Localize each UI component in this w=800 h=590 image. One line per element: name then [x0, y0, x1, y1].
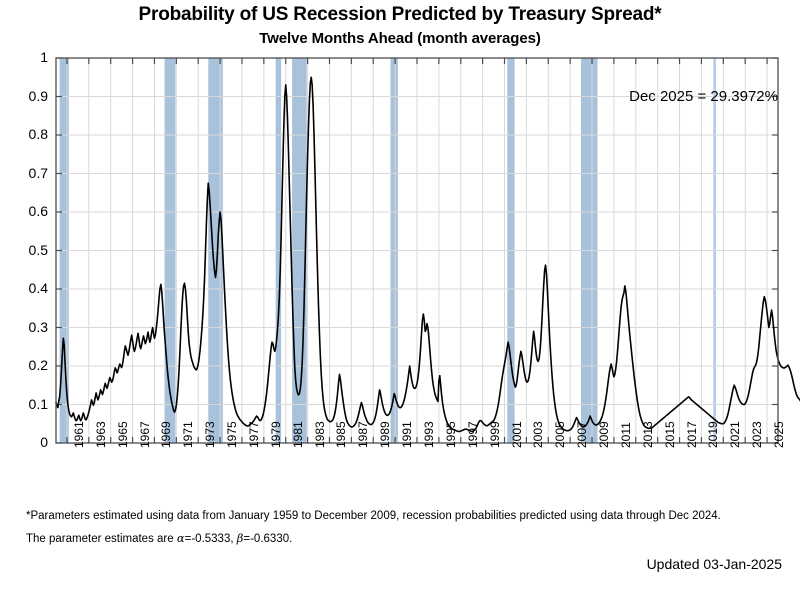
x-tick-label: 2017 [685, 421, 699, 448]
x-tick-label: 1995 [444, 421, 458, 448]
x-tick-label: 2005 [553, 421, 567, 448]
x-tick-label: 1971 [181, 421, 195, 448]
footnote-estimates: The parameter estimates are α=-0.5333, β… [26, 531, 292, 545]
x-tick-label: 1961 [72, 421, 86, 448]
y-tick-label: 0.8 [12, 126, 48, 142]
x-tick-label: 2009 [597, 421, 611, 448]
x-tick-label: 1973 [203, 421, 217, 448]
y-tick-label: 0.7 [12, 165, 48, 181]
footnote-estimates-prefix: The parameter estimates are [26, 533, 177, 545]
x-tick-label: 1963 [94, 421, 108, 448]
x-tick-label: 2023 [750, 421, 764, 448]
x-tick-label: 1975 [225, 421, 239, 448]
y-tick-label: 0.5 [12, 242, 48, 258]
y-tick-label: 0.1 [12, 396, 48, 412]
x-tick-label: 1997 [466, 421, 480, 448]
x-tick-label: 2013 [641, 421, 655, 448]
x-tick-label: 1969 [159, 421, 173, 448]
x-tick-label: 2015 [663, 421, 677, 448]
updated-date: Updated 03-Jan-2025 [0, 556, 782, 572]
x-tick-label: 2011 [619, 422, 633, 448]
x-tick-label: 1979 [269, 421, 283, 448]
x-tick-label: 1991 [400, 421, 414, 448]
alpha-value: =-0.5333, [185, 533, 237, 545]
x-tick-label: 1989 [378, 421, 392, 448]
x-tick-label: 2019 [706, 421, 720, 448]
x-tick-label: 2001 [510, 421, 524, 448]
x-tick-label: 1993 [422, 421, 436, 448]
y-tick-label: 0.9 [12, 88, 48, 104]
x-tick-label: 1985 [334, 421, 348, 448]
current-value-annotation: Dec 2025 = 29.3972% [500, 88, 778, 105]
x-tick-label: 1967 [138, 421, 152, 448]
x-tick-label: 2025 [772, 421, 786, 448]
y-tick-label: 1 [12, 49, 48, 65]
y-tick-label: 0.6 [12, 203, 48, 219]
y-tick-label: 0 [12, 434, 48, 450]
x-tick-label: 1965 [116, 421, 130, 448]
x-tick-label: 1981 [291, 421, 305, 448]
x-tick-label: 1987 [356, 421, 370, 448]
y-tick-label: 0.4 [12, 280, 48, 296]
x-tick-label: 1977 [247, 421, 261, 448]
y-tick-label: 0.2 [12, 357, 48, 373]
x-tick-label: 1999 [488, 421, 502, 448]
x-tick-label: 2007 [575, 421, 589, 448]
beta-value: =-0.6330. [243, 533, 292, 545]
footnote-parameters: *Parameters estimated using data from Ja… [26, 510, 721, 522]
chart-figure: Probability of US Recession Predicted by… [0, 0, 800, 590]
x-tick-label: 1983 [313, 421, 327, 448]
x-tick-label: 2003 [531, 421, 545, 448]
x-tick-label: 2021 [728, 421, 742, 448]
alpha-symbol: α [177, 531, 185, 545]
y-tick-label: 0.3 [12, 319, 48, 335]
